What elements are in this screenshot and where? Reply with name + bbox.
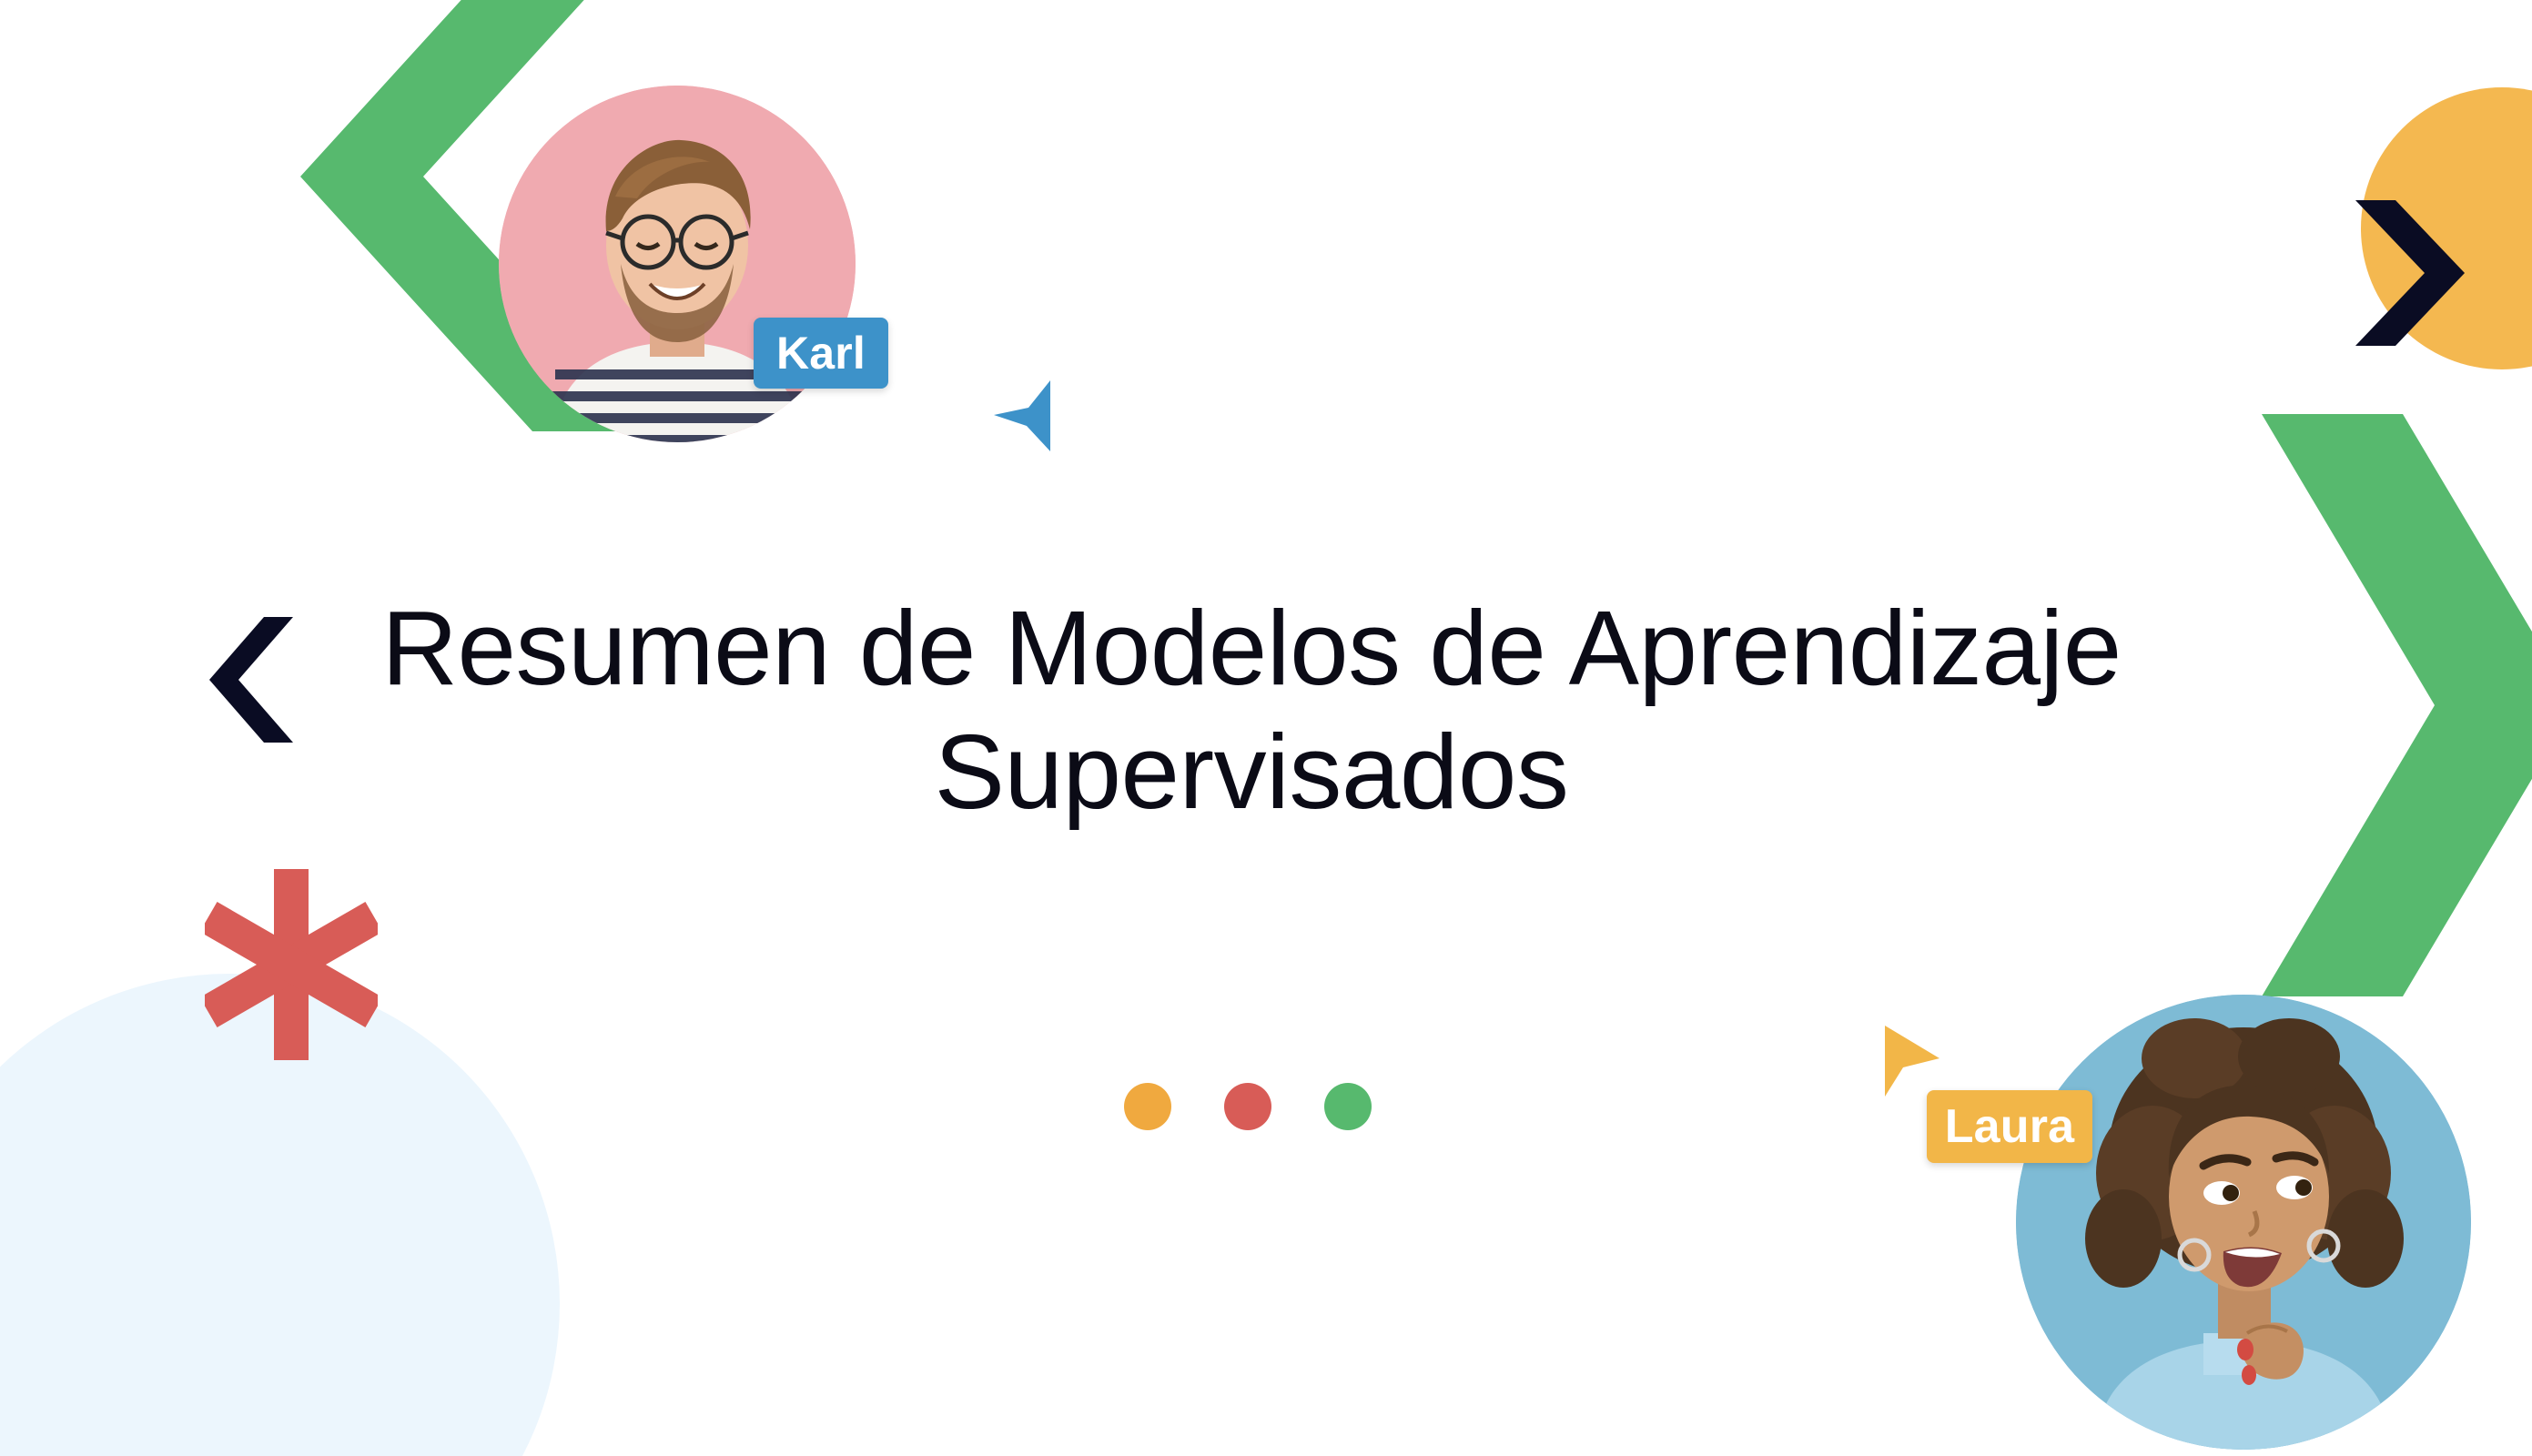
name-chip-laura: Laura (1927, 1090, 2092, 1163)
laura-portrait-photo (2016, 995, 2471, 1450)
title-line-1: Resumen de Modelos de Aprendizaje (300, 587, 2203, 711)
yellow-cursor-arrow-icon (1879, 1022, 1943, 1102)
presentation-slide: Karl (0, 0, 2532, 1456)
chevron-right-icon-navy (2355, 200, 2465, 346)
avatar-karl (499, 86, 856, 442)
chevron-left-icon-navy (209, 617, 293, 743)
chevron-right-icon-green (2184, 414, 2532, 996)
asterisk-icon (205, 869, 378, 1060)
title-line-2: Supervisados (300, 711, 2203, 834)
avatar-laura (2016, 995, 2471, 1450)
dot-green (1324, 1083, 1372, 1130)
page-title: Resumen de Modelos de Aprendizaje Superv… (300, 587, 2203, 834)
blue-cursor-arrow-icon (990, 375, 1056, 457)
dot-orange (1124, 1083, 1171, 1130)
name-chip-karl: Karl (754, 318, 888, 389)
dot-red (1224, 1083, 1271, 1130)
dot-group (1124, 1083, 1372, 1130)
karl-portrait-photo (499, 86, 856, 442)
